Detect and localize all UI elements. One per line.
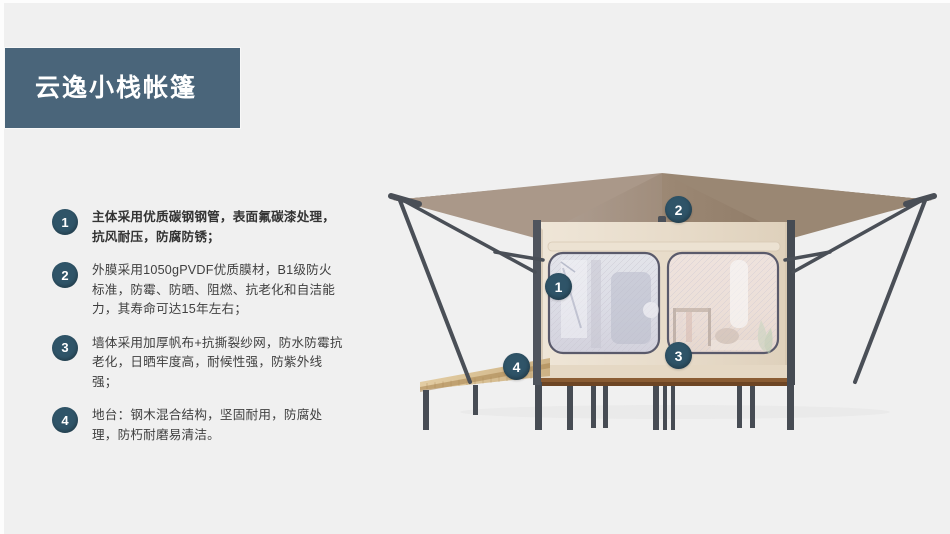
tent-illustration: 1 2 3 4 xyxy=(375,160,950,440)
feature-text-3: 墙体采用加厚帆布+抗撕裂纱网，防水防霉抗老化，日晒牢度高，耐候性强，防紫外线强； xyxy=(92,334,344,393)
marker-1: 1 xyxy=(545,273,572,300)
marker-2: 2 xyxy=(665,196,692,223)
feature-item-4: 4 地台：钢木混合结构，坚固耐用，防腐处理，防朽耐磨易清洁。 xyxy=(52,406,352,445)
window-valance xyxy=(548,242,780,251)
slide-canvas: 云逸小栈帐篷 1 主体采用优质碳钢钢管，表面氟碳漆处理，抗风耐压，防腐防锈； 2… xyxy=(0,0,950,534)
feature-text-1: 主体采用优质碳钢钢管，表面氟碳漆处理，抗风耐压，防腐防锈； xyxy=(92,208,344,247)
feature-badge-1: 1 xyxy=(52,209,78,235)
marker-3: 3 xyxy=(665,342,692,369)
feature-badge-4: 4 xyxy=(52,407,78,433)
title-banner: 云逸小栈帐篷 xyxy=(5,48,240,128)
feature-text-4: 地台：钢木混合结构，坚固耐用，防腐处理，防朽耐磨易清洁。 xyxy=(92,406,344,445)
page-title: 云逸小栈帐篷 xyxy=(5,76,197,101)
deck-edge-shadow xyxy=(535,382,793,386)
feature-text-2: 外膜采用1050gPVDF优质膜材，B1级防火标准，防霉、防晒、阻燃、抗老化和自… xyxy=(92,261,344,320)
frame-post-right xyxy=(787,220,795,385)
feature-badge-3: 3 xyxy=(52,335,78,361)
feature-list: 1 主体采用优质碳钢钢管，表面氟碳漆处理，抗风耐压，防腐防锈； 2 外膜采用10… xyxy=(52,208,352,459)
marker-4: 4 xyxy=(503,353,530,380)
frame-post-left xyxy=(533,220,541,385)
feature-item-1: 1 主体采用优质碳钢钢管，表面氟碳漆处理，抗风耐压，防腐防锈； xyxy=(52,208,352,247)
feature-badge-2: 2 xyxy=(52,262,78,288)
feature-item-3: 3 墙体采用加厚帆布+抗撕裂纱网，防水防霉抗老化，日晒牢度高，耐候性强，防紫外线… xyxy=(52,334,352,393)
feature-item-2: 2 外膜采用1050gPVDF优质膜材，B1级防火标准，防霉、防晒、阻燃、抗老化… xyxy=(52,261,352,320)
tent-illustration-svg xyxy=(375,160,950,440)
